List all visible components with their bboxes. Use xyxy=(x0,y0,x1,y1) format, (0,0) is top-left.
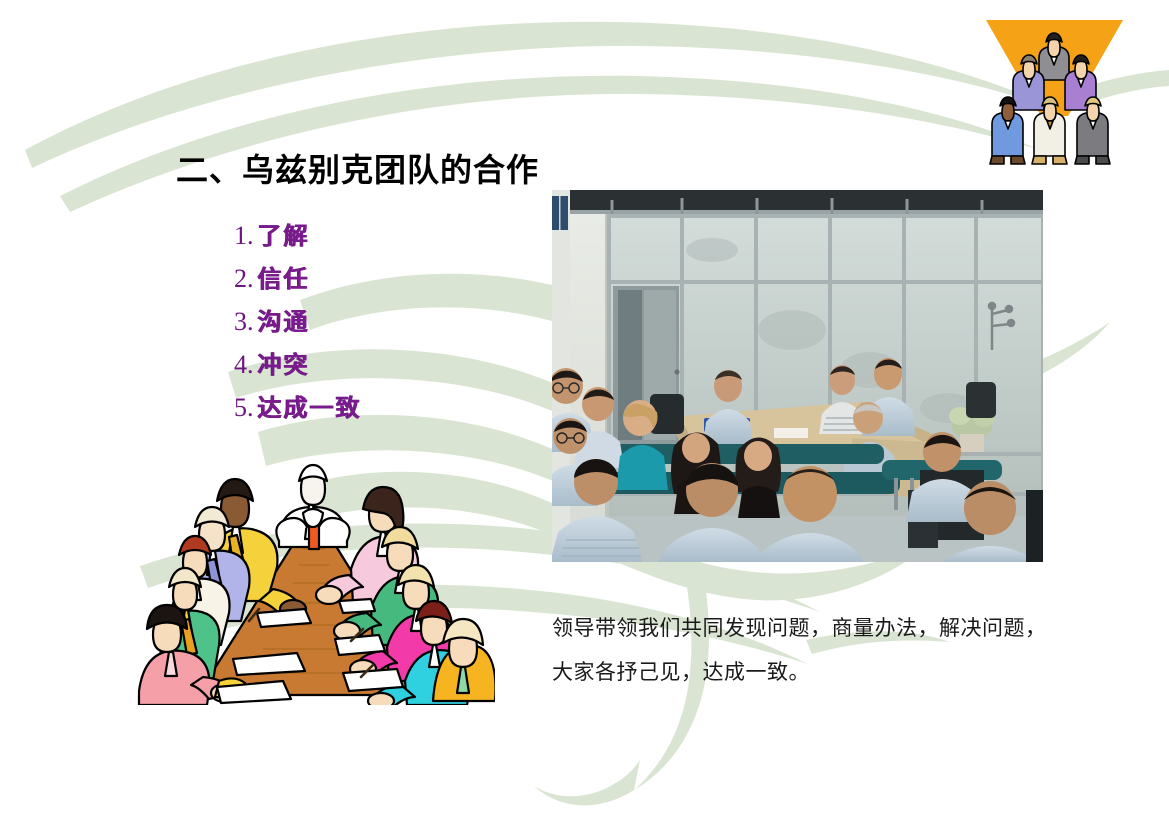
bullet-label: 信任 xyxy=(258,259,310,294)
bullet-label: 达成一致 xyxy=(258,388,362,423)
bullet-number: 3. xyxy=(234,307,254,337)
caption-line-2: 大家各抒己见，达成一致。 xyxy=(552,650,1112,694)
bullet-item-2: 2. 信任 xyxy=(234,259,494,302)
bullet-item-3: 3. 沟通 xyxy=(234,302,494,345)
slide-canvas: 二、乌兹别克团队的合作 1. 了解 2. 信任 3. 沟通 4. 冲突 5. 达… xyxy=(0,0,1169,827)
bullet-item-1: 1. 了解 xyxy=(234,216,494,259)
bullet-number: 5. xyxy=(234,393,254,423)
bullet-label: 了解 xyxy=(258,216,310,251)
bullet-item-5: 5. 达成一致 xyxy=(234,388,494,431)
bullet-item-4: 4. 冲突 xyxy=(234,345,494,388)
bullet-label: 沟通 xyxy=(258,302,310,337)
meeting-room-photo xyxy=(552,190,1043,562)
bullet-number: 4. xyxy=(234,350,254,380)
bullet-number: 1. xyxy=(234,221,254,251)
caption-line-1: 领导带领我们共同发现问题，商量办法，解决问题， xyxy=(552,606,1112,650)
meeting-table-clipart xyxy=(133,443,495,705)
bullet-number: 2. xyxy=(234,264,254,294)
slide-title: 二、乌兹别克团队的合作 xyxy=(176,149,539,191)
bullet-label: 冲突 xyxy=(258,345,310,380)
bullet-list: 1. 了解 2. 信任 3. 沟通 4. 冲突 5. 达成一致 xyxy=(234,216,494,431)
photo-caption: 领导带领我们共同发现问题，商量办法，解决问题， 大家各抒己见，达成一致。 xyxy=(552,606,1112,694)
team-pyramid-clipart xyxy=(982,18,1127,170)
